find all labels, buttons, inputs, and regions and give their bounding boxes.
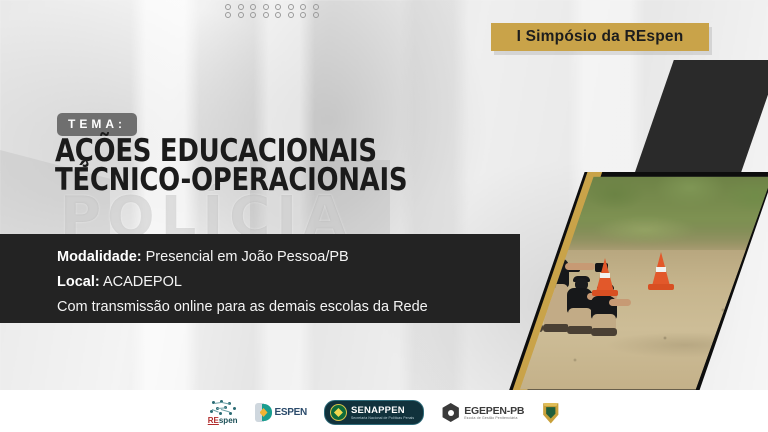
logo-respen: REspen xyxy=(208,400,238,425)
page-title: AÇÕES EDUCACIONAIS TÉCNICO-OPERACIONAIS xyxy=(55,137,446,196)
logo-respen-suffix: spen xyxy=(219,416,238,425)
event-title-badge: I Simpósio da REspen xyxy=(491,23,709,51)
logo-espen-text: ESPEN xyxy=(275,407,307,418)
logo-policia-civil-shield xyxy=(541,402,560,424)
shield-top-band xyxy=(544,403,557,406)
local-value: ACADEPOL xyxy=(103,274,182,290)
event-title-text: I Simpósio da REspen xyxy=(517,28,684,46)
logo-respen-text: REspen xyxy=(208,417,238,425)
info-transmission: Com transmissão online para as demais es… xyxy=(57,295,512,320)
info-modalidade: Modalidade: Presencial em João Pessoa/PB xyxy=(57,245,512,270)
footer-logo-bar: REspen ESPEN SENAPPEN Secretaria Naciona… xyxy=(0,393,768,432)
espen-mark-icon xyxy=(255,403,272,422)
info-lines: Modalidade: Presencial em João Pessoa/PB… xyxy=(57,245,512,320)
logo-egepen-pb: EGEPEN-PB Escola de Gestão Penitenciária xyxy=(441,403,524,422)
logo-egepen-subtitle: Escola de Gestão Penitenciária xyxy=(464,416,524,420)
logo-respen-prefix: RE xyxy=(208,416,219,425)
local-label: Local: xyxy=(57,274,100,290)
info-local: Local: ACADEPOL xyxy=(57,270,512,295)
info-band: Modalidade: Presencial em João Pessoa/PB… xyxy=(0,234,520,323)
logo-senappen-subtitle: Secretaria Nacional de Políticas Penais xyxy=(351,416,414,420)
logo-egepen-block: EGEPEN-PB Escola de Gestão Penitenciária xyxy=(464,406,524,420)
senappen-emblem-icon xyxy=(330,404,347,421)
dot-grid-decoration xyxy=(222,3,322,19)
logo-senappen-block: SENAPPEN Secretaria Nacional de Política… xyxy=(351,405,414,420)
poster-canvas: POLÍCIA I Simpósio da REspen xyxy=(0,0,768,432)
logo-senappen: SENAPPEN Secretaria Nacional de Política… xyxy=(324,400,424,425)
logo-espen: ESPEN xyxy=(255,403,307,422)
egepen-hex-icon xyxy=(441,403,460,422)
network-icon xyxy=(210,400,236,417)
modalidade-value: Presencial em João Pessoa/PB xyxy=(146,249,349,265)
logo-senappen-text: SENAPPEN xyxy=(351,405,414,416)
modalidade-label: Modalidade: xyxy=(57,249,142,265)
logo-egepen-text: EGEPEN-PB xyxy=(464,406,524,416)
